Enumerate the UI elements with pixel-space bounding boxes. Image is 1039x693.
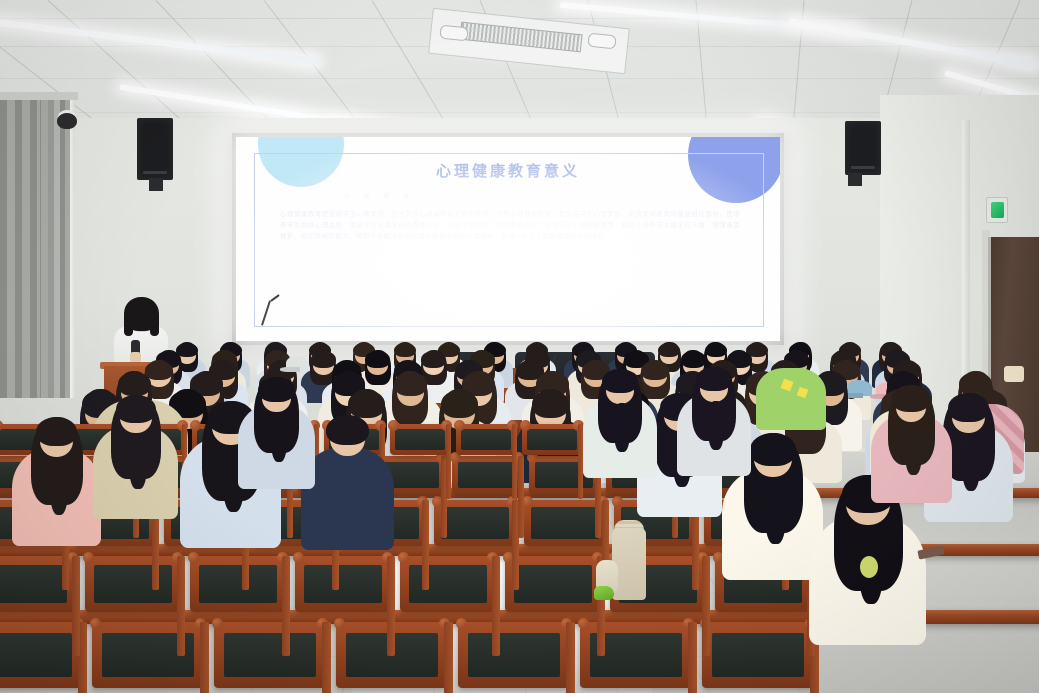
seat-backrest-pad xyxy=(531,507,598,538)
lecture-seat[interactable] xyxy=(190,556,286,612)
audience-center-right-hair xyxy=(602,369,638,393)
audience-hair-top xyxy=(394,343,416,357)
lecture-seat[interactable] xyxy=(458,622,570,688)
audience-area xyxy=(0,0,1039,693)
seat-knob-left xyxy=(190,420,201,431)
audience-hair-top xyxy=(118,372,151,396)
seat-backrest-pad xyxy=(304,565,383,603)
lecture-seat[interactable] xyxy=(456,424,516,455)
audience-hair-top xyxy=(421,351,446,368)
lecture-seat[interactable] xyxy=(505,556,601,612)
jacket-badge xyxy=(860,556,878,578)
seat-side-post xyxy=(177,556,185,656)
seat-side-post xyxy=(688,622,697,693)
seat-backrest-pad xyxy=(461,429,510,450)
seat-backrest-pad xyxy=(395,429,444,450)
seat-backrest-pad xyxy=(224,633,316,678)
seat-backrest-pad xyxy=(0,633,72,678)
lecture-seat[interactable] xyxy=(92,622,204,688)
audience-cap-blue xyxy=(846,380,872,396)
lecture-seat[interactable] xyxy=(702,622,814,688)
audience-center-right2-hair xyxy=(696,367,732,391)
seat-backrest-pad xyxy=(409,565,488,603)
audience-right-edge-ponytail xyxy=(962,433,980,491)
audience-front-cream-ponytail xyxy=(765,479,786,545)
lecture-seat[interactable] xyxy=(0,622,82,688)
seat-backrest-pad xyxy=(458,462,515,488)
seat-backrest-pad xyxy=(0,565,67,603)
audience-front-pink-hair xyxy=(36,417,77,446)
audience-center-right-ponytail xyxy=(614,403,629,451)
seat-backrest-pad xyxy=(441,507,508,538)
audience-front-pink-ponytail xyxy=(50,457,68,515)
audience-mid-left-hair xyxy=(258,377,295,402)
audience-hair-top xyxy=(532,390,569,418)
seat-side-post xyxy=(282,556,290,656)
plush-toy-green xyxy=(594,586,614,600)
audience-center-right2-ponytail xyxy=(708,401,723,449)
audience-front-khaki-hair xyxy=(116,395,156,423)
seat-backrest-pad xyxy=(514,565,593,603)
seat-backrest-pad xyxy=(199,565,278,603)
seat-knob-left xyxy=(612,496,623,507)
tote-bag xyxy=(612,528,646,600)
seat-knob-left xyxy=(83,552,94,563)
seat-side-post xyxy=(200,622,209,693)
seat-backrest-pad xyxy=(712,633,804,678)
seat-knob-left xyxy=(212,618,223,629)
audience-hair-top xyxy=(641,361,669,380)
audience-torso-green-tee xyxy=(756,368,826,430)
seat-side-post xyxy=(512,424,517,499)
audience-hair-top xyxy=(348,390,385,418)
seat-knob-left xyxy=(188,552,199,563)
seat-backrest-pad xyxy=(527,429,576,450)
seat-knob-left xyxy=(520,420,531,431)
seat-side-post xyxy=(444,622,453,693)
seat-backrest-pad xyxy=(468,633,560,678)
audience-right-plaid-ponytail xyxy=(905,422,922,475)
seat-knob-left xyxy=(456,618,467,629)
audience-hair-top xyxy=(365,351,390,368)
audience-hair-top xyxy=(441,390,478,418)
seat-side-post xyxy=(446,424,451,499)
audience-front-khaki-ponytail xyxy=(129,434,147,489)
lecture-seat[interactable] xyxy=(295,556,391,612)
lecture-hall-photo: 心理健康教育意义 心 理 健 康 心理健康教育是提高学生心理素质、促进其身心健康… xyxy=(0,0,1039,693)
lecture-seat[interactable] xyxy=(390,424,450,455)
seat-side-post xyxy=(518,456,524,538)
audience-hair-top xyxy=(145,361,173,380)
audience-front-navy-hair xyxy=(326,415,369,445)
seat-side-post xyxy=(566,622,575,693)
seat-knob-left xyxy=(388,420,399,431)
seat-knob-left xyxy=(293,552,304,563)
seat-knob-left xyxy=(578,618,589,629)
audience-hair-top xyxy=(658,343,680,357)
lecture-seat[interactable] xyxy=(524,500,606,546)
lecture-seat[interactable] xyxy=(85,556,181,612)
seat-knob-left xyxy=(90,618,101,629)
audience-right-plaid-hair xyxy=(892,385,930,412)
audience-hair-top xyxy=(394,372,427,396)
audience-front-cream-hair xyxy=(750,433,796,466)
hair-clip xyxy=(1004,366,1024,382)
audience-hair-top xyxy=(705,343,727,357)
seat-side-post xyxy=(702,556,710,656)
seat-knob-left xyxy=(334,618,345,629)
seat-side-post xyxy=(492,556,500,656)
audience-hair-top xyxy=(681,351,706,368)
seat-side-post xyxy=(72,556,80,656)
seat-knob-left xyxy=(454,420,465,431)
seat-side-post xyxy=(322,622,331,693)
audience-hair-top xyxy=(311,351,336,368)
audience-cap-white xyxy=(286,356,308,370)
audience-mid-left-ponytail xyxy=(271,412,287,462)
seat-side-post xyxy=(387,556,395,656)
seat-backrest-pad xyxy=(94,565,173,603)
lecture-seat[interactable] xyxy=(400,556,496,612)
seat-side-post xyxy=(422,500,429,590)
lecture-seat[interactable] xyxy=(214,622,326,688)
lecture-seat[interactable] xyxy=(522,424,582,455)
seat-knob-left xyxy=(398,552,409,563)
audience-right-edge-hair xyxy=(948,393,989,422)
